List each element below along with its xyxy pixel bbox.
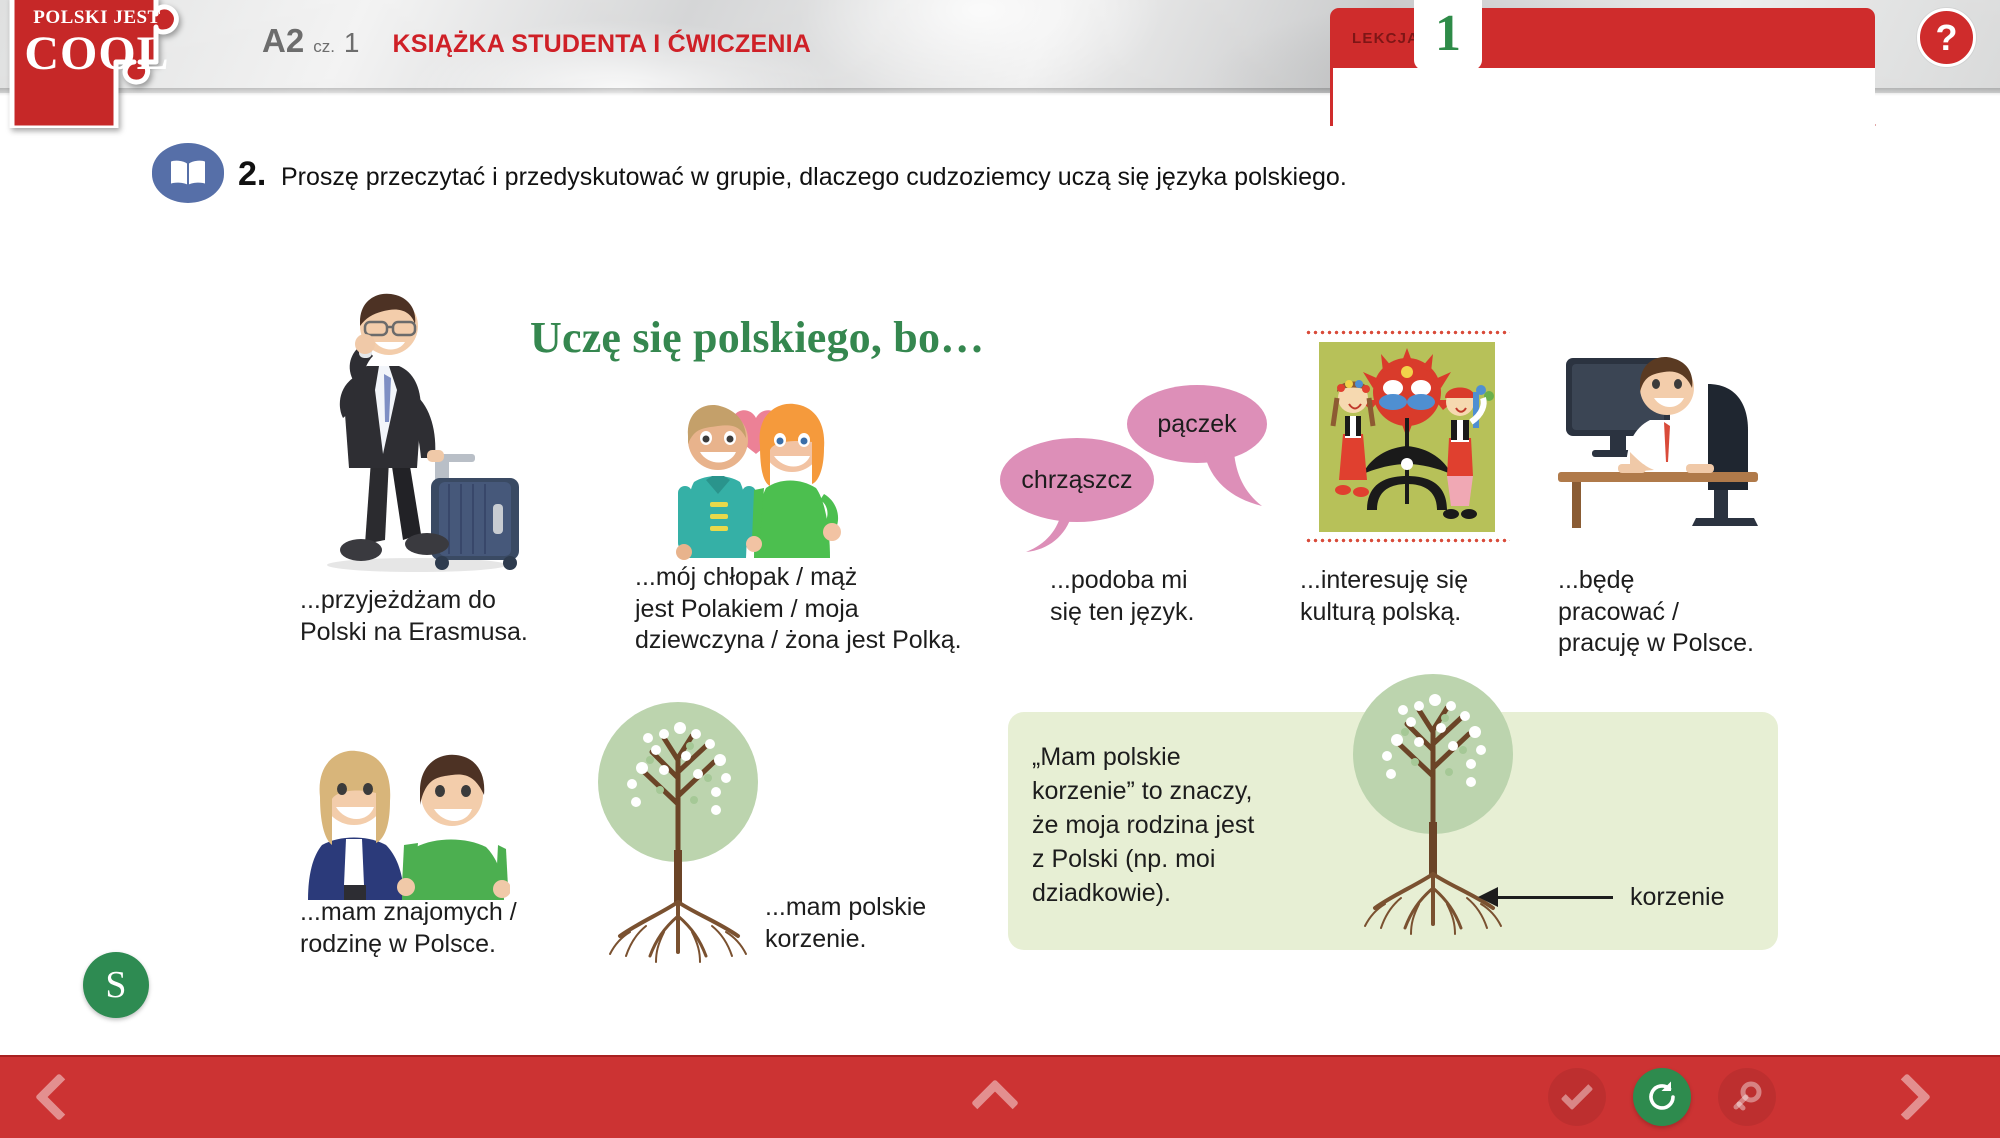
folk-art-image (1319, 342, 1495, 532)
part-number: 1 (344, 27, 360, 59)
book-meta: A2 cz. 1 KSIĄŻKA STUDENTA I ĆWICZENIA (262, 22, 811, 60)
refresh-button[interactable] (1633, 1068, 1691, 1126)
caption-3: ...podoba mi się ten język. (1050, 565, 1195, 628)
puzzle-piece-logo[interactable]: POLSKI JEST COOL (8, 0, 208, 128)
chevron-left-icon (35, 1073, 83, 1121)
folk-dots-bottom (1305, 538, 1510, 543)
help-button[interactable]: ? (1917, 8, 1976, 67)
speech-bubble-paczek-text: pączek (1157, 410, 1236, 439)
side-badge-letter: S (105, 963, 126, 1007)
level-label: A2 (262, 22, 304, 60)
caption-6: ...mam znajomych / rodzinę w Polsce. (300, 897, 517, 960)
speech-bubble-paczek-tail (1200, 450, 1270, 512)
subsection-rule (1330, 68, 1333, 126)
caption-1: ...przyjeżdżam do Polski na Erasmusa. (300, 585, 528, 648)
task-number: 2. (238, 155, 266, 194)
two-friends (300, 735, 510, 905)
subsection-bar (1330, 68, 1875, 126)
open-book-glyph (167, 157, 209, 189)
next-page-button[interactable] (1890, 1080, 1924, 1114)
part-label: cz. (313, 37, 335, 57)
content-heading: Uczę się polskiego, bo… (530, 312, 984, 363)
polish-folk-art (1305, 330, 1510, 545)
lesson-number-badge: 1 (1414, 0, 1482, 70)
check-icon (1561, 1077, 1594, 1110)
puzzle-piece-icon (8, 0, 208, 128)
speech-bubble-chrzaszcz-tail (1022, 508, 1076, 556)
side-badge-s[interactable]: S (83, 952, 149, 1018)
book-title: KSIĄŻKA STUDENTA I ĆWICZENIA (393, 30, 812, 59)
task-instruction-text: Proszę przeczytać i przedyskutować w gru… (281, 163, 1347, 192)
tree-with-roots (590, 700, 770, 985)
info-box-tree-with-roots (1345, 672, 1525, 957)
couple-with-heart (648, 390, 864, 565)
office-worker-at-computer (1558, 340, 1780, 545)
check-button[interactable] (1548, 1068, 1606, 1126)
lesson-label: LEKCJA (1352, 30, 1419, 47)
page-root: POLSKI JEST COOL A2 cz. 1 KSIĄŻKA STUDEN… (0, 0, 2000, 1138)
scroll-up-button[interactable] (978, 1086, 1012, 1120)
key-button[interactable] (1718, 1068, 1776, 1126)
book-title-main: KSIĄŻKA STUDENTA (393, 30, 647, 58)
arrow-label-korzenie: korzenie (1630, 883, 1725, 912)
speech-bubble-chrzaszcz-text: chrząszcz (1021, 466, 1132, 495)
refresh-icon (1644, 1079, 1680, 1115)
lesson-tab[interactable]: LEKCJA (1330, 8, 1875, 68)
open-book-icon (152, 143, 224, 203)
prev-page-button[interactable] (42, 1080, 76, 1114)
caption-7: ...mam polskie korzenie. (765, 892, 926, 955)
folk-dots-top (1305, 330, 1510, 335)
caption-2: ...mój chłopak / mąż jest Polakiem / moj… (635, 562, 962, 657)
info-box-text: „Mam polskie korzenie” to znaczy, że moj… (1032, 740, 1332, 910)
businessman-with-suitcase (305, 282, 540, 577)
book-title-secondary: ĆWICZENIA (668, 30, 811, 58)
chevron-right-icon (1883, 1073, 1931, 1121)
lesson-number: 1 (1435, 8, 1461, 60)
caption-4: ...interesuję się kulturą polską. (1300, 565, 1468, 628)
arrow-line (1493, 896, 1613, 899)
book-title-separator: I (646, 30, 667, 58)
chevron-up-icon (971, 1079, 1019, 1127)
question-mark-icon: ? (1917, 8, 1976, 67)
caption-5: ...będę pracować / pracuję w Polsce. (1558, 565, 1754, 660)
key-icon (1730, 1080, 1764, 1114)
